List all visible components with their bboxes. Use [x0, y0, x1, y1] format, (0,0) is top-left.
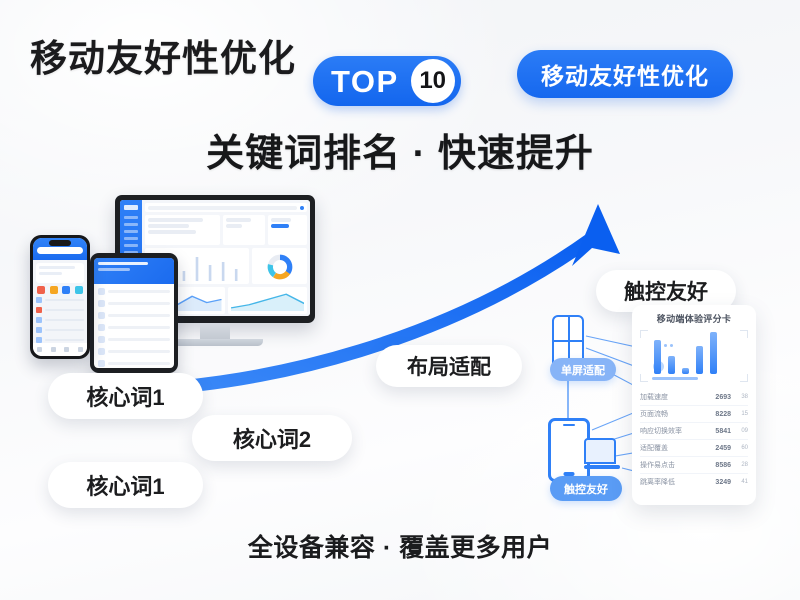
scorecard-metric-name: 适配覆盖 — [640, 443, 711, 453]
chart-bar — [668, 356, 675, 374]
scorecard-metric-name: 页面流畅 — [640, 409, 711, 419]
feature-pill-layout: 布局适配 — [376, 345, 522, 387]
page-title: 移动友好性优化 — [30, 28, 296, 82]
scorecard-metric-change: 60 — [735, 445, 748, 451]
chart-bar — [710, 332, 717, 374]
dashboard-filter-card — [145, 215, 220, 245]
scorecard-row: 加载速度269338 — [640, 389, 748, 406]
scorecard-metric-value: 8228 — [715, 411, 731, 418]
list-item — [36, 327, 84, 333]
chart-bar — [682, 368, 689, 374]
device-mockups — [30, 195, 330, 375]
footer-tagline: 全设备兼容 · 覆盖更多用户 — [0, 528, 800, 564]
sidebar-nav-item — [124, 216, 138, 219]
tablet-list — [94, 284, 174, 367]
list-item — [98, 312, 170, 319]
laptop-icon — [584, 438, 620, 472]
tab-icon — [64, 347, 69, 352]
keyword-pill-3: 核心词1 — [48, 462, 203, 508]
page-subtitle: 关键词排名 · 快速提升 — [0, 122, 800, 177]
scorecard-row: 适配覆盖245960 — [640, 440, 748, 457]
phone-screen — [33, 238, 87, 356]
sidebar-nav-item — [124, 230, 138, 233]
list-item — [36, 307, 84, 313]
scorecard-rows: 加载速度269338页面流畅822815响应切换效率584109适配覆盖2459… — [640, 389, 748, 490]
list-item — [98, 324, 170, 331]
dashboard-toolbar — [145, 203, 307, 212]
scorecard-metric-value: 2459 — [715, 445, 731, 452]
scorecard-metric-value: 8586 — [715, 462, 731, 469]
scorecard-row: 响应切换效率584109 — [640, 423, 748, 440]
donut-chart-card — [252, 248, 307, 284]
tablet-screen — [94, 258, 174, 368]
list-item — [98, 336, 170, 343]
scorecard-row: 页面流畅822815 — [640, 406, 748, 423]
sidebar-nav-item — [124, 237, 138, 240]
scorecard-row: 操作易点击858628 — [640, 457, 748, 474]
chart-bar — [696, 346, 703, 374]
tab-icon — [37, 347, 42, 352]
phone-quick-icons — [35, 286, 85, 294]
phone-tab-bar — [33, 343, 87, 356]
dashboard-avatar — [300, 206, 304, 210]
scorecard-chart — [640, 330, 748, 382]
scorecard-metric-change: 09 — [735, 428, 748, 434]
list-item — [98, 300, 170, 307]
sidebar-nav-item — [124, 223, 138, 226]
scorecard-row: 跳离率降低324941 — [640, 474, 748, 490]
scorecard-metric-name: 加载速度 — [640, 392, 711, 402]
dashboard-stat-card — [223, 215, 265, 245]
tab-icon — [78, 347, 83, 352]
scorecard-metric-change: 38 — [735, 394, 748, 400]
dashboard-search-bar — [148, 206, 297, 210]
keyword-pill-1: 核心词1 — [48, 373, 203, 419]
list-item — [98, 360, 170, 367]
chart-bar — [654, 340, 661, 374]
scorecard-metric-value: 3249 — [715, 479, 731, 486]
tablet-hero-banner — [94, 258, 174, 284]
top-rank-badge: TOP 10 — [313, 56, 461, 106]
scorecard-metric-value: 5841 — [715, 428, 731, 435]
scorecard-metric-change: 15 — [735, 411, 748, 417]
scorecard-metric-value: 2693 — [715, 394, 731, 401]
top-badge-number: 10 — [411, 59, 455, 103]
list-item — [36, 317, 84, 323]
tag-pill-mobile-friendly: 移动友好性优化 — [517, 50, 733, 98]
tab-icon — [51, 347, 56, 352]
keyword-pill-2: 核心词2 — [192, 415, 352, 461]
scorecard-metric-change: 41 — [735, 479, 748, 485]
sidebar-nav-item — [124, 244, 138, 247]
scorecard-metric-name: 操作易点击 — [640, 460, 711, 470]
trend-chart — [231, 290, 305, 311]
quick-icon — [75, 286, 83, 294]
quick-icon — [50, 286, 58, 294]
scorecard-metric-name: 响应切换效率 — [640, 426, 711, 436]
quick-icon — [62, 286, 70, 294]
chart-bars — [654, 332, 738, 374]
monitor-stand-neck — [200, 323, 230, 339]
scorecard-metric-name: 跳离率降低 — [640, 477, 711, 487]
phone-notch — [49, 240, 71, 246]
top-badge-word: TOP — [331, 66, 411, 97]
donut-chart — [265, 252, 295, 282]
chart-baseline — [652, 377, 698, 380]
mobile-experience-scorecard: 移动端体验评分卡 加载速度269338页面流畅822815响应切换效率58410… — [632, 305, 756, 505]
dashboard-stat-card — [268, 215, 307, 245]
phone-mockup — [30, 235, 90, 359]
scorecard-title: 移动端体验评分卡 — [640, 312, 748, 325]
list-item — [98, 288, 170, 295]
trend-chart-card — [228, 287, 308, 314]
diagram-label-touch-friendly: 触控友好 — [550, 476, 622, 501]
phone-promo-card — [36, 263, 84, 283]
dashboard-filter-row — [145, 215, 307, 245]
monitor-stand-base — [167, 339, 263, 346]
phone-search-bar — [37, 247, 83, 254]
diagram-label-single-screen: 单屏适配 — [550, 358, 616, 381]
scorecard-metric-change: 28 — [735, 462, 748, 468]
poster-canvas: 移动友好性优化 TOP 10 移动友好性优化 关键词排名 · 快速提升 — [0, 0, 800, 600]
list-item — [36, 297, 84, 303]
quick-icon — [37, 286, 45, 294]
list-item — [98, 348, 170, 355]
tablet-mockup — [90, 253, 178, 373]
dashboard-logo — [124, 205, 138, 210]
